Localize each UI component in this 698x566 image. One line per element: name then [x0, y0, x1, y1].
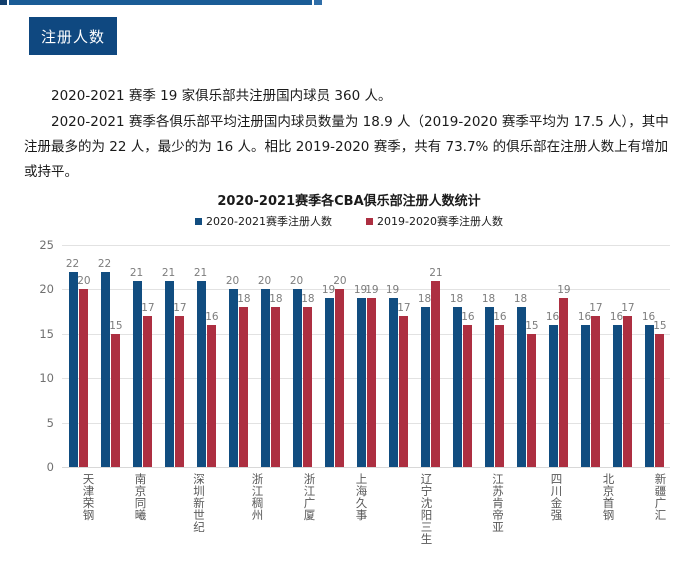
bar-series-0[interactable]: 18	[517, 307, 526, 467]
bar-series-0[interactable]: 16	[613, 325, 622, 467]
y-axis-tick-5: 5	[47, 416, 54, 430]
bar-series-1[interactable]: 16	[463, 325, 472, 467]
bar-series-1[interactable]: 17	[175, 316, 184, 467]
bar-group: 1821	[414, 245, 446, 467]
category-label-text: 辽宁沈阳三生	[420, 473, 433, 557]
bar-series-1[interactable]: 20	[335, 289, 344, 467]
bar-series-0[interactable]: 19	[325, 298, 334, 467]
bar-series-1[interactable]: 17	[143, 316, 152, 467]
category-label: 上海久事	[335, 473, 387, 557]
bar-value-label: 17	[397, 302, 410, 314]
top-strip-segment-left	[0, 0, 7, 5]
body-text: 2020-2021 赛季 19 家俱乐部共注册国内球员 360 人。 2020-…	[24, 84, 674, 186]
bar-value-label: 18	[482, 293, 495, 305]
bar-value-label: 21	[194, 267, 207, 279]
bar-series-1[interactable]: 21	[431, 281, 440, 467]
bar-pair: 1816	[478, 245, 510, 467]
bar-series-0[interactable]: 21	[133, 281, 142, 467]
bar-value-label: 17	[621, 302, 634, 314]
bar-series-0[interactable]: 20	[229, 289, 238, 467]
category-label: 山东西王	[686, 473, 698, 557]
bar-pair: 2215	[94, 245, 126, 467]
bar-value-label: 16	[546, 311, 559, 323]
bar-value-label: 18	[237, 293, 250, 305]
bar-value-label: 20	[290, 275, 303, 287]
bar-value-label: 15	[109, 320, 122, 332]
category-label: 浙江稠州	[231, 473, 283, 557]
bar-value-label: 16	[205, 311, 218, 323]
legend-label-1: 2019-2020赛季注册人数	[377, 213, 503, 229]
bar-value-label: 21	[130, 267, 143, 279]
y-axis-tick-0: 0	[47, 460, 54, 474]
bar-group: 1816	[446, 245, 478, 467]
page-root: 注册人数 2020-2021 赛季 19 家俱乐部共注册国内球员 360 人。 …	[0, 0, 698, 566]
bar-value-label: 18	[301, 293, 314, 305]
bar-series-1[interactable]: 17	[399, 316, 408, 467]
bar-pair: 1615	[638, 245, 670, 467]
legend-item-0[interactable]: 2020-2021赛季注册人数	[195, 213, 332, 229]
bar-pair: 1821	[414, 245, 446, 467]
bar-series-1[interactable]: 15	[111, 334, 120, 467]
bar-series-0[interactable]: 20	[261, 289, 270, 467]
bar-group: 1919	[350, 245, 382, 467]
bar-group: 2018	[222, 245, 254, 467]
bar-pair: 2117	[126, 245, 158, 467]
bar-pair: 1617	[606, 245, 638, 467]
category-label-text: 北京首钢	[602, 473, 615, 557]
bar-series-1[interactable]: 20	[79, 289, 88, 467]
bar-series-1[interactable]: 18	[271, 307, 280, 467]
bar-series-0[interactable]: 16	[549, 325, 558, 467]
bar-value-label: 19	[365, 284, 378, 296]
bar-group: 1816	[478, 245, 510, 467]
category-label-text: 新疆广汇	[654, 473, 667, 557]
category-label-text: 浙江广厦	[303, 473, 316, 557]
category-label-text: 南京同曦	[134, 473, 147, 557]
bar-value-label: 18	[418, 293, 431, 305]
bar-pair: 2116	[190, 245, 222, 467]
bar-pair: 1815	[510, 245, 542, 467]
bar-value-label: 16	[493, 311, 506, 323]
bar-pair: 2018	[254, 245, 286, 467]
bar-value-label: 20	[77, 275, 90, 287]
chart-plot-area: 0510152025 22202215211721172116201820182…	[62, 245, 670, 566]
bar-value-label: 18	[450, 293, 463, 305]
bar-group: 2215	[94, 245, 126, 467]
bar-value-label: 19	[386, 284, 399, 296]
bar-group: 2116	[190, 245, 222, 467]
bar-series-1[interactable]: 16	[207, 325, 216, 467]
category-label: 浙江广厦	[283, 473, 335, 557]
top-decorative-strip	[0, 0, 322, 5]
bar-group: 1617	[606, 245, 638, 467]
bar-series-1[interactable]: 15	[527, 334, 536, 467]
bar-series-0[interactable]: 18	[485, 307, 494, 467]
bar-value-label: 18	[269, 293, 282, 305]
paragraph-1: 2020-2021 赛季 19 家俱乐部共注册国内球员 360 人。	[24, 84, 674, 109]
bar-pair: 2117	[158, 245, 190, 467]
category-label: 深圳新世纪	[166, 473, 231, 557]
bar-group: 2117	[126, 245, 158, 467]
bar-series-0[interactable]: 20	[293, 289, 302, 467]
chart-legend: 2020-2021赛季注册人数2019-2020赛季注册人数	[0, 213, 698, 229]
category-label-text: 浙江稠州	[251, 473, 264, 557]
y-axis-tick-25: 25	[39, 238, 54, 252]
top-strip-segment-right	[314, 0, 322, 5]
chart-category-labels: 天津荣钢南京同曦深圳新世纪浙江稠州浙江广厦上海久事辽宁沈阳三生江苏肯帝亚四川金强…	[62, 473, 670, 557]
bar-series-1[interactable]: 16	[495, 325, 504, 467]
gridline-0: 0	[62, 467, 670, 468]
bar-pair: 1917	[382, 245, 414, 467]
bar-value-label: 15	[525, 320, 538, 332]
category-label-text: 天津荣钢	[82, 473, 95, 557]
bar-series-0[interactable]: 19	[389, 298, 398, 467]
legend-item-1[interactable]: 2019-2020赛季注册人数	[366, 213, 503, 229]
bar-group: 1619	[542, 245, 574, 467]
bar-value-label: 19	[557, 284, 570, 296]
bar-value-label: 21	[429, 267, 442, 279]
bar-value-label: 22	[98, 258, 111, 270]
bar-pair: 1920	[318, 245, 350, 467]
bar-series-0[interactable]: 22	[101, 272, 110, 467]
chart-bar-groups: 2220221521172117211620182018201819201919…	[62, 245, 670, 467]
bar-group: 2220	[62, 245, 94, 467]
category-label: 辽宁沈阳三生	[387, 473, 465, 557]
bar-group: 1615	[638, 245, 670, 467]
registration-bar-chart: 2020-2021赛季各CBA俱乐部注册人数统计 2020-2021赛季注册人数…	[0, 190, 698, 566]
category-label-text: 四川金强	[550, 473, 563, 557]
bar-value-label: 20	[226, 275, 239, 287]
bar-series-0[interactable]: 16	[581, 325, 590, 467]
bar-series-0[interactable]: 18	[421, 307, 430, 467]
category-label: 北京首钢	[582, 473, 634, 557]
bar-series-1[interactable]: 17	[623, 316, 632, 467]
bar-value-label: 17	[589, 302, 602, 314]
bar-value-label: 16	[461, 311, 474, 323]
bar-series-1[interactable]: 19	[367, 298, 376, 467]
legend-label-0: 2020-2021赛季注册人数	[206, 213, 332, 229]
category-label-text: 江苏肯帝亚	[491, 473, 504, 557]
category-label: 四川金强	[530, 473, 582, 557]
bar-pair: 1816	[446, 245, 478, 467]
bar-value-label: 17	[173, 302, 186, 314]
category-label: 南京同曦	[114, 473, 166, 557]
bar-series-1[interactable]: 17	[591, 316, 600, 467]
bar-value-label: 22	[66, 258, 79, 270]
bar-pair: 2018	[286, 245, 318, 467]
bar-group: 1815	[510, 245, 542, 467]
bar-pair: 1619	[542, 245, 574, 467]
bar-value-label: 15	[653, 320, 666, 332]
bar-pair: 2018	[222, 245, 254, 467]
bar-pair: 1617	[574, 245, 606, 467]
legend-swatch-icon-1	[366, 218, 373, 225]
bar-value-label: 21	[162, 267, 175, 279]
bar-series-1[interactable]: 19	[559, 298, 568, 467]
top-strip-segment-middle	[9, 0, 312, 5]
bar-series-1[interactable]: 15	[655, 334, 664, 467]
paragraph-2: 2020-2021 赛季各俱乐部平均注册国内球员数量为 18.9 人（2019-…	[24, 110, 674, 185]
bar-group: 1917	[382, 245, 414, 467]
bar-series-0[interactable]: 21	[165, 281, 174, 467]
bar-group: 2018	[254, 245, 286, 467]
bar-pair: 2220	[62, 245, 94, 467]
chart-title: 2020-2021赛季各CBA俱乐部注册人数统计	[0, 190, 698, 209]
bar-group: 2117	[158, 245, 190, 467]
category-label: 江苏肯帝亚	[465, 473, 530, 557]
y-axis-tick-15: 15	[39, 327, 54, 341]
y-axis-tick-20: 20	[39, 282, 54, 296]
legend-swatch-icon-0	[195, 218, 202, 225]
bar-series-0[interactable]: 19	[357, 298, 366, 467]
bar-series-1[interactable]: 18	[303, 307, 312, 467]
bar-series-0[interactable]: 21	[197, 281, 206, 467]
bar-group: 1617	[574, 245, 606, 467]
bar-value-label: 20	[258, 275, 271, 287]
bar-value-label: 18	[514, 293, 527, 305]
bar-series-0[interactable]: 22	[69, 272, 78, 467]
category-label: 天津荣钢	[62, 473, 114, 557]
category-label-text: 深圳新世纪	[192, 473, 205, 557]
category-label: 新疆广汇	[634, 473, 686, 557]
y-axis-tick-10: 10	[39, 371, 54, 385]
bar-group: 2018	[286, 245, 318, 467]
section-heading-chip: 注册人数	[29, 17, 117, 55]
bar-series-0[interactable]: 18	[453, 307, 462, 467]
bar-group: 1920	[318, 245, 350, 467]
bar-value-label: 17	[141, 302, 154, 314]
bar-series-0[interactable]: 16	[645, 325, 654, 467]
category-label-text: 上海久事	[355, 473, 368, 557]
bar-value-label: 20	[333, 275, 346, 287]
bar-pair: 1919	[350, 245, 382, 467]
bar-series-1[interactable]: 18	[239, 307, 248, 467]
